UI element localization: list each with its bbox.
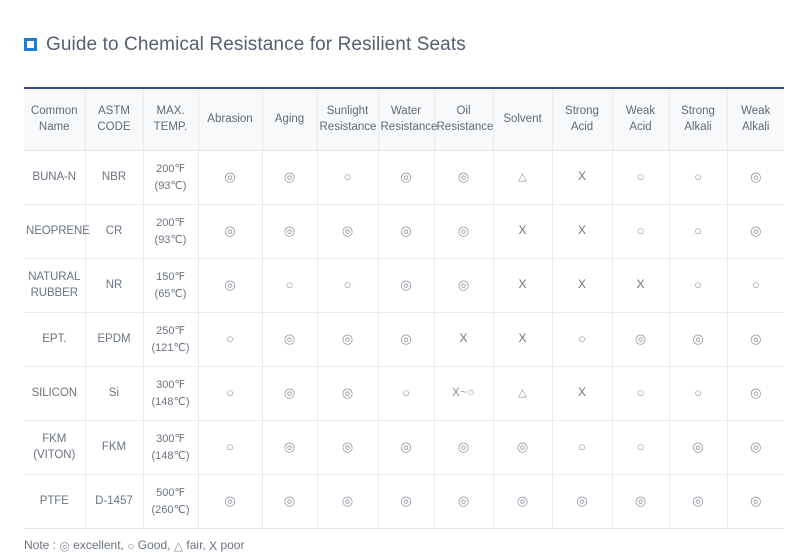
rating-symbol: ○ [578, 440, 586, 453]
cell-rating: ◎ [434, 151, 493, 205]
astm-code-text: EPDM [88, 332, 141, 348]
header-line-2: Acid [555, 120, 610, 136]
max-temp-celsius: (93℃) [146, 232, 196, 249]
cell-astm-code: FKM [85, 421, 143, 475]
cell-rating: △ [493, 151, 552, 205]
column-header-weak-acid: Weak Acid [612, 89, 669, 151]
rating-symbol: △ [518, 172, 526, 183]
rating-symbol: ○ [694, 170, 702, 183]
cell-rating: △ [493, 367, 552, 421]
column-header-aging: Aging [262, 89, 317, 151]
cell-common-name: FKM(VITON) [24, 421, 85, 475]
legend-label: fair, [183, 538, 209, 552]
common-name-line: FKM [26, 432, 83, 448]
rating-symbol: ◎ [284, 332, 295, 345]
cell-rating: ◎ [262, 421, 317, 475]
common-name-line: EPT. [26, 332, 83, 348]
cell-rating: ◎ [378, 421, 434, 475]
cell-rating: ◎ [727, 313, 784, 367]
cell-rating: ◎ [669, 421, 727, 475]
cell-common-name: BUNA-N [24, 151, 85, 205]
common-name-line: BUNA-N [26, 170, 83, 186]
column-header-solvent: Solvent [493, 89, 552, 151]
cell-rating: ◎ [727, 475, 784, 529]
max-temp-fahrenheit: 300℉ [146, 377, 196, 394]
cell-rating: ◎ [262, 313, 317, 367]
max-temp-celsius: (148℃) [146, 448, 196, 465]
header-line-2: Acid [615, 120, 667, 136]
max-temp-celsius: (260℃) [146, 502, 196, 519]
rating-symbol: ○ [694, 386, 702, 399]
legend-prefix: Note : [24, 538, 59, 552]
rating-symbol: ◎ [750, 224, 761, 237]
rating-symbol: ◎ [400, 170, 411, 183]
cell-rating: ○ [669, 259, 727, 313]
header-line-2: Resistance [381, 120, 432, 136]
cell-astm-code: Si [85, 367, 143, 421]
cell-rating: ◎ [378, 151, 434, 205]
cell-common-name: EPT. [24, 313, 85, 367]
header-line-1: Water [381, 104, 432, 120]
rating-symbol: ◎ [224, 170, 235, 183]
cell-rating: ◎ [727, 205, 784, 259]
cell-rating: ◎ [317, 313, 378, 367]
cell-rating: ◎ [262, 367, 317, 421]
cell-rating: ○ [612, 367, 669, 421]
rating-symbol: ◎ [224, 278, 235, 291]
rating-symbol: ○ [694, 224, 702, 237]
cell-rating: X [552, 151, 612, 205]
table-body: BUNA-NNBR200℉(93℃)◎◎○◎◎△X○○◎NEOPRENECR20… [24, 151, 784, 529]
cell-rating: ◎ [434, 259, 493, 313]
rating-symbol: X [578, 278, 586, 290]
cell-rating: ○ [612, 151, 669, 205]
cell-rating: ○ [198, 367, 262, 421]
rating-symbol: ◎ [458, 440, 469, 453]
header-line-2: Alkali [730, 120, 783, 136]
rating-symbol: ◎ [692, 494, 703, 507]
rating-symbol: ◎ [400, 494, 411, 507]
cell-common-name: PTFE [24, 475, 85, 529]
rating-symbol: ○ [637, 170, 645, 183]
cell-rating: ◎ [198, 205, 262, 259]
max-temp-celsius: (121℃) [146, 340, 196, 357]
rating-symbol: ○ [226, 386, 234, 399]
cell-max-temp: 200℉(93℃) [143, 205, 198, 259]
table-row: SILICONSi300℉(148℃)○◎◎○X~○△X○○◎ [24, 367, 784, 421]
rating-symbol: ◎ [342, 224, 353, 237]
table-row: NEOPRENECR200℉(93℃)◎◎◎◎◎XX○○◎ [24, 205, 784, 259]
cell-rating: X [552, 205, 612, 259]
header-line-2: CODE [88, 120, 141, 136]
table-row: BUNA-NNBR200℉(93℃)◎◎○◎◎△X○○◎ [24, 151, 784, 205]
legend-label: Good, [134, 538, 173, 552]
header-line-1: MAX. [146, 104, 196, 120]
cell-rating: ○ [669, 205, 727, 259]
astm-code-text: NBR [88, 170, 141, 186]
cell-rating: ◎ [612, 313, 669, 367]
cell-rating: ◎ [317, 205, 378, 259]
legend-label: poor [217, 538, 244, 552]
rating-symbol: ◎ [284, 494, 295, 507]
column-header-strong-alkali: Strong Alkali [669, 89, 727, 151]
rating-symbol: ◎ [284, 170, 295, 183]
rating-symbol: ◎ [400, 224, 411, 237]
cell-astm-code: D-1457 [85, 475, 143, 529]
max-temp-fahrenheit: 200℉ [146, 215, 196, 232]
rating-symbol: X [636, 278, 644, 290]
common-name-line: PTFE [26, 494, 83, 510]
cell-astm-code: EPDM [85, 313, 143, 367]
rating-symbol: ◎ [342, 386, 353, 399]
cell-rating: ○ [552, 421, 612, 475]
column-header-water-resistance: Water Resistance [378, 89, 434, 151]
page-title: Guide to Chemical Resistance for Resilie… [46, 35, 466, 54]
cell-rating: ◎ [612, 475, 669, 529]
astm-code-text: NR [88, 278, 141, 294]
rating-symbol: ◎ [458, 170, 469, 183]
rating-symbol: X [518, 332, 526, 344]
column-header-weak-alkali: Weak Alkali [727, 89, 784, 151]
rating-symbol: ○ [226, 440, 234, 453]
cell-rating: X [552, 367, 612, 421]
cell-rating: X~○ [434, 367, 493, 421]
rating-symbol: ◎ [750, 332, 761, 345]
header-line-1: Weak [615, 104, 667, 120]
rating-symbol: ◎ [750, 440, 761, 453]
max-temp-celsius: (65℃) [146, 286, 196, 303]
cell-rating: ◎ [262, 475, 317, 529]
cell-rating: ◎ [434, 475, 493, 529]
cell-rating: ◎ [317, 475, 378, 529]
rating-symbol: ◎ [342, 494, 353, 507]
cell-max-temp: 150℉(65℃) [143, 259, 198, 313]
cell-max-temp: 300℉(148℃) [143, 421, 198, 475]
cell-rating: ◎ [262, 205, 317, 259]
cell-rating: ◎ [378, 475, 434, 529]
cell-astm-code: CR [85, 205, 143, 259]
rating-symbol: ◎ [458, 278, 469, 291]
table-header-row: Common Name ASTM CODE MAX. TEMP. Abrasio… [24, 89, 784, 151]
table-row: EPT.EPDM250℉(121℃)○◎◎◎XX○◎◎◎ [24, 313, 784, 367]
header-line-1: Solvent [496, 112, 550, 128]
chemical-resistance-table: Common Name ASTM CODE MAX. TEMP. Abrasio… [24, 89, 784, 529]
header-line-1: Strong [672, 104, 725, 120]
rating-symbol: ◎ [224, 494, 235, 507]
rating-symbol: ○ [402, 386, 410, 399]
column-header-astm-code: ASTM CODE [85, 89, 143, 151]
rating-symbol: ◎ [458, 224, 469, 237]
page-root: Guide to Chemical Resistance for Resilie… [0, 0, 800, 553]
cell-rating: ◎ [378, 205, 434, 259]
cell-common-name: SILICON [24, 367, 85, 421]
column-header-max-temp: MAX. TEMP. [143, 89, 198, 151]
cell-rating: ◎ [434, 205, 493, 259]
table-row: FKM(VITON)FKM300℉(148℃)○◎◎◎◎◎○○◎◎ [24, 421, 784, 475]
rating-symbol: ◎ [342, 440, 353, 453]
rating-symbol: ○ [694, 278, 702, 291]
rating-symbol: ◎ [750, 494, 761, 507]
page-header: Guide to Chemical Resistance for Resilie… [0, 0, 800, 64]
rating-symbol: ◎ [284, 224, 295, 237]
rating-symbol: X [578, 224, 586, 236]
astm-code-text: CR [88, 224, 141, 240]
cell-common-name: NEOPRENE [24, 205, 85, 259]
rating-symbol: ◎ [342, 332, 353, 345]
cell-max-temp: 300℉(148℃) [143, 367, 198, 421]
header-line-1: Strong [555, 104, 610, 120]
rating-symbol: ○ [752, 278, 760, 291]
cell-rating: ◎ [552, 475, 612, 529]
rating-symbol: ◎ [284, 440, 295, 453]
cell-rating: ◎ [262, 151, 317, 205]
rating-symbol: X [578, 170, 586, 182]
common-name-line: RUBBER [26, 286, 83, 302]
header-line-1: ASTM [88, 104, 141, 120]
legend-symbol: ◎ [59, 540, 69, 552]
cell-rating: ○ [317, 259, 378, 313]
common-name-line: (VITON) [26, 448, 83, 464]
cell-rating: ○ [612, 205, 669, 259]
max-temp-fahrenheit: 300℉ [146, 431, 196, 448]
rating-symbol: X [578, 386, 586, 398]
rating-symbol: ◎ [750, 170, 761, 183]
legend-note: Note : ◎ excellent, ○ Good, △ fair, X po… [24, 538, 800, 552]
table-row: PTFED-1457500℉(260℃)◎◎◎◎◎◎◎◎◎◎ [24, 475, 784, 529]
header-line-1: Common [26, 104, 83, 120]
header-line-1: Aging [265, 112, 315, 128]
max-temp-fahrenheit: 500℉ [146, 485, 196, 502]
cell-rating: ◎ [727, 421, 784, 475]
cell-rating: ◎ [669, 313, 727, 367]
cell-rating: ◎ [493, 475, 552, 529]
cell-rating: ◎ [378, 313, 434, 367]
astm-code-text: Si [88, 386, 141, 402]
max-temp-celsius: (93℃) [146, 178, 196, 195]
cell-rating: ◎ [378, 259, 434, 313]
legend-symbol: △ [174, 540, 183, 552]
cell-rating: ◎ [198, 259, 262, 313]
rating-symbol: ○ [578, 332, 586, 345]
cell-rating: ○ [669, 151, 727, 205]
rating-symbol: ◎ [692, 332, 703, 345]
cell-rating: ◎ [317, 367, 378, 421]
rating-symbol: ◎ [224, 224, 235, 237]
rating-symbol: ◎ [750, 386, 761, 399]
rating-symbol: ○ [344, 170, 352, 183]
rating-symbol: ◎ [517, 494, 528, 507]
cell-rating: ◎ [669, 475, 727, 529]
rating-symbol: ◎ [400, 278, 411, 291]
cell-max-temp: 250℉(121℃) [143, 313, 198, 367]
rating-symbol: X [459, 332, 467, 344]
rating-symbol: ○ [637, 386, 645, 399]
cell-rating: ○ [378, 367, 434, 421]
cell-rating: ○ [317, 151, 378, 205]
cell-rating: ○ [552, 313, 612, 367]
rating-symbol: ◎ [576, 494, 587, 507]
rating-symbol: ○ [344, 278, 352, 291]
cell-max-temp: 500℉(260℃) [143, 475, 198, 529]
cell-rating: ◎ [198, 151, 262, 205]
cell-rating: ○ [198, 313, 262, 367]
header-line-1: Abrasion [201, 112, 260, 128]
max-temp-fahrenheit: 150℉ [146, 269, 196, 286]
rating-symbol: X [518, 224, 526, 236]
rating-symbol: △ [518, 388, 526, 399]
cell-rating: ◎ [317, 421, 378, 475]
header-line-1: Oil [437, 104, 491, 120]
cell-rating: X [493, 259, 552, 313]
rating-symbol: ◎ [635, 332, 646, 345]
common-name-line: NATURAL [26, 270, 83, 286]
chemical-resistance-table-wrapper: Common Name ASTM CODE MAX. TEMP. Abrasio… [24, 87, 784, 529]
cell-rating: ○ [669, 367, 727, 421]
cell-rating: ◎ [727, 151, 784, 205]
cell-rating: X [434, 313, 493, 367]
header-line-1: Sunlight [320, 104, 376, 120]
cell-astm-code: NBR [85, 151, 143, 205]
rating-symbol: ◎ [458, 494, 469, 507]
column-header-oil-resistance: Oil Resistance [434, 89, 493, 151]
cell-rating: X [493, 313, 552, 367]
cell-rating: X [552, 259, 612, 313]
cell-rating: ◎ [198, 475, 262, 529]
cell-rating: ◎ [434, 421, 493, 475]
max-temp-fahrenheit: 200℉ [146, 161, 196, 178]
header-line-2: Name [26, 120, 83, 136]
column-header-sunlight-resistance: Sunlight Resistance [317, 89, 378, 151]
cell-common-name: NATURALRUBBER [24, 259, 85, 313]
blue-square-icon [24, 38, 37, 51]
cell-rating: ○ [727, 259, 784, 313]
column-header-abrasion: Abrasion [198, 89, 262, 151]
table-header-row-group: Common Name ASTM CODE MAX. TEMP. Abrasio… [24, 89, 784, 151]
cell-astm-code: NR [85, 259, 143, 313]
column-header-common-name: Common Name [24, 89, 85, 151]
legend-label: excellent, [70, 538, 127, 552]
header-line-1: Weak [730, 104, 783, 120]
cell-rating: ○ [262, 259, 317, 313]
rating-symbol: ○ [637, 224, 645, 237]
header-line-2: Resistance [437, 120, 491, 136]
common-name-line: SILICON [26, 386, 83, 402]
rating-symbol: ◎ [284, 386, 295, 399]
header-line-2: TEMP. [146, 120, 196, 136]
cell-rating: X [493, 205, 552, 259]
astm-code-text: D-1457 [88, 494, 141, 510]
rating-symbol: ◎ [517, 440, 528, 453]
cell-rating: ◎ [493, 421, 552, 475]
rating-symbol: ◎ [692, 440, 703, 453]
rating-symbol: ◎ [635, 494, 646, 507]
common-name-line: NEOPRENE [26, 224, 83, 240]
cell-rating: ◎ [727, 367, 784, 421]
legend-symbol: X [209, 540, 217, 552]
rating-symbol: ◎ [400, 440, 411, 453]
rating-symbol: ○ [286, 278, 294, 291]
cell-rating: ○ [612, 421, 669, 475]
table-row: NATURALRUBBERNR150℉(65℃)◎○○◎◎XXX○○ [24, 259, 784, 313]
astm-code-text: FKM [88, 440, 141, 456]
cell-rating: ○ [198, 421, 262, 475]
rating-symbol: X~○ [452, 388, 475, 400]
rating-symbol: ○ [226, 332, 234, 345]
rating-symbol: X [518, 278, 526, 290]
max-temp-celsius: (148℃) [146, 394, 196, 411]
header-line-2: Alkali [672, 120, 725, 136]
header-line-2: Resistance [320, 120, 376, 136]
cell-max-temp: 200℉(93℃) [143, 151, 198, 205]
max-temp-fahrenheit: 250℉ [146, 323, 196, 340]
column-header-strong-acid: Strong Acid [552, 89, 612, 151]
rating-symbol: ○ [637, 440, 645, 453]
cell-rating: X [612, 259, 669, 313]
rating-symbol: ◎ [400, 332, 411, 345]
